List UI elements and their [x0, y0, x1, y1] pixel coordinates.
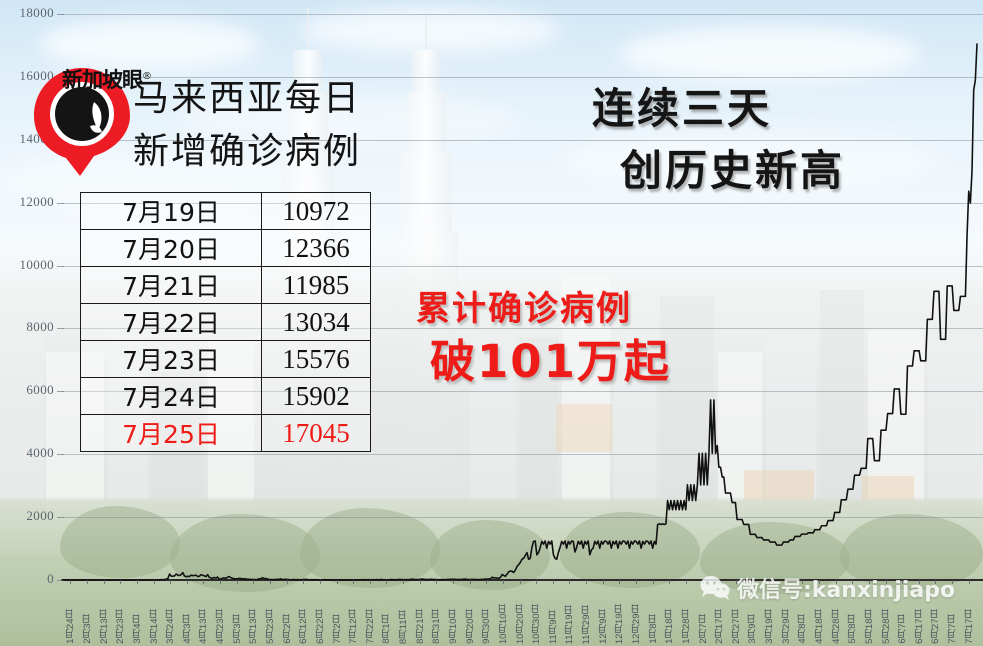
table-cell-value: 15576 [262, 341, 371, 378]
x-axis-tick-mark [170, 580, 171, 584]
cumulative-cases-callout: 累计确诊病例 破101万起 [416, 286, 671, 391]
x-axis-tick-mark [553, 580, 554, 584]
x-axis-tick-mark [453, 580, 454, 584]
x-axis-tick-mark [220, 580, 221, 584]
x-axis-tick-label: 3月9日 [746, 614, 760, 644]
x-axis-tick-label: 2月7日 [697, 614, 711, 644]
table-cell-value: 12366 [262, 230, 371, 267]
x-axis-tick-label: 8月31日 [430, 609, 444, 644]
x-axis-tick-mark [686, 580, 687, 584]
headline-line-1: 连续三天 [592, 84, 772, 133]
x-axis-tick-mark [669, 580, 670, 584]
chart-title-line-1: 马来西亚每日 [133, 72, 361, 125]
x-axis-tick-mark [536, 580, 537, 584]
x-axis-tick-mark [470, 580, 471, 584]
chart-title-line-2: 新增确诊病例 [133, 125, 361, 178]
x-axis-tick-label: 3月29日 [780, 609, 794, 644]
x-axis-tick-label: 10月20日 [514, 604, 528, 644]
x-axis-tick-label: 3月14日 [148, 609, 162, 644]
x-axis-tick-label: 1月8日 [647, 614, 661, 644]
watermark-text: 微信号:kanxinjiapo [737, 572, 955, 604]
table-cell-date: 7月20日 [81, 230, 262, 267]
x-axis-tick-label: 9月20日 [464, 609, 478, 644]
x-axis-tick-label: 6月7日 [896, 614, 910, 644]
x-axis-tick-label: 5月28日 [880, 609, 894, 644]
x-axis-tick-label: 1月28日 [680, 609, 694, 644]
x-axis-tick-label: 10月30日 [530, 604, 544, 644]
table-row: 7月21日11985 [81, 267, 371, 304]
x-axis-tick-mark [636, 580, 637, 584]
x-axis-tick-mark [603, 580, 604, 584]
x-axis-tick-label: 8月11日 [397, 610, 411, 644]
x-axis-tick-label: 7月2日 [331, 614, 345, 644]
x-axis-tick-mark [436, 580, 437, 584]
singapore-eye-logo[interactable]: 新加坡眼® [28, 62, 136, 180]
x-axis-tick-label: 4月3日 [181, 614, 195, 644]
x-axis-tick-label: 1月24日 [64, 609, 78, 644]
x-axis-tick-label: 6月27日 [929, 609, 943, 644]
headline: 连续三天 创历史新高 [592, 78, 845, 202]
x-axis-tick-label: 4月23日 [214, 609, 228, 644]
table-row: 7月19日10972 [81, 193, 371, 230]
x-axis-tick-mark [370, 580, 371, 584]
x-axis-tick-label: 7月17日 [963, 609, 977, 644]
x-axis-tick-mark [120, 580, 121, 584]
x-axis-tick-label: 4月18日 [813, 609, 827, 644]
table-cell-value: 17045 [262, 415, 371, 452]
x-axis-tick-label: 2月13日 [98, 609, 112, 644]
x-axis-tick-label: 12月29日 [630, 604, 644, 644]
x-axis-tick-mark [187, 580, 188, 584]
x-axis-tick-label: 2月17日 [713, 609, 727, 644]
infographic-canvas: 0200040006000800010000120001400016000180… [0, 0, 983, 646]
x-axis-tick-label: 10月10日 [497, 604, 511, 644]
logo-wordmark-text: 新加坡眼 [62, 68, 142, 92]
x-axis-tick-mark [87, 580, 88, 584]
x-axis-tick-mark [320, 580, 321, 584]
x-axis-tick-label: 8月21日 [414, 609, 428, 644]
x-axis-tick-label: 6月22日 [314, 609, 328, 644]
x-axis-tick-label: 11月9日 [547, 610, 561, 644]
x-axis-tick-mark [70, 580, 71, 584]
x-axis-tick-label: 7月7日 [946, 614, 960, 644]
x-axis-tick-label: 6月17日 [913, 609, 927, 644]
table-cell-value: 11985 [262, 267, 371, 304]
x-axis-tick-mark [569, 580, 570, 584]
x-axis-tick-label: 3月19日 [763, 609, 777, 644]
x-axis-tick-label: 11月19日 [563, 605, 577, 644]
x-axis-tick-label: 5月8日 [846, 614, 860, 644]
x-axis-tick-mark [353, 580, 354, 584]
x-axis-tick-label: 4月28日 [830, 609, 844, 644]
x-axis-tick-mark [503, 580, 504, 584]
x-axis-tick-label: 5月23日 [264, 609, 278, 644]
x-axis-tick-label: 5月3日 [231, 614, 245, 644]
x-axis-tick-label: 12月9日 [597, 609, 611, 644]
table-cell-date: 7月24日 [81, 378, 262, 415]
x-axis-tick-mark [253, 580, 254, 584]
cumulative-cases-label: 累计确诊病例 [416, 286, 671, 333]
x-axis-tick-label: 5月18日 [863, 609, 877, 644]
x-axis-tick-mark [386, 580, 387, 584]
x-axis-tick-mark [154, 580, 155, 584]
table-row: 7月25日17045 [81, 415, 371, 452]
table-row: 7月20日12366 [81, 230, 371, 267]
x-axis-tick-mark [303, 580, 304, 584]
x-axis-tick-mark [520, 580, 521, 584]
x-axis-tick-label: 5月13日 [247, 609, 261, 644]
x-axis-tick-label: 7月12日 [347, 609, 361, 644]
x-axis-tick-label: 2月27日 [730, 609, 744, 644]
table-row: 7月22日13034 [81, 304, 371, 341]
x-axis-tick-mark [287, 580, 288, 584]
table-cell-date: 7月19日 [81, 193, 262, 230]
x-axis-tick-mark [237, 580, 238, 584]
chart-title: 马来西亚每日 新增确诊病例 [133, 72, 361, 178]
x-axis-tick-mark [619, 580, 620, 584]
table-cell-value: 10972 [262, 193, 371, 230]
x-axis-tick-label: 2月3日 [81, 614, 95, 644]
cumulative-cases-value: 破101万起 [416, 333, 671, 391]
x-axis-tick-mark [969, 580, 970, 584]
x-axis-tick-mark [337, 580, 338, 584]
x-axis-tick-label: 11月29日 [580, 605, 594, 644]
x-axis-tick-label: 2月23日 [114, 609, 128, 644]
x-axis-tick-label: 9月30日 [480, 609, 494, 644]
wechat-icon [700, 575, 730, 601]
x-axis-tick-label: 7月22日 [364, 609, 378, 644]
headline-line-2: 创历史新高 [592, 140, 845, 202]
x-axis-tick-label: 9月10日 [447, 609, 461, 644]
x-axis-tick-label: 8月1日 [380, 614, 394, 644]
table-cell-value: 13034 [262, 304, 371, 341]
x-axis-tick-label: 4月8日 [796, 614, 810, 644]
x-axis-tick-mark [403, 580, 404, 584]
table-cell-value: 15902 [262, 378, 371, 415]
x-axis-tick-label: 6月2日 [281, 614, 295, 644]
table-row: 7月24日15902 [81, 378, 371, 415]
x-axis-tick-label: 3月4日 [131, 614, 145, 644]
recent-daily-cases-table: 7月19日109727月20日123667月21日119857月22日13034… [80, 192, 371, 452]
x-axis-tick-mark [270, 580, 271, 584]
x-axis-tick-label: 3月24日 [164, 609, 178, 644]
table-cell-date: 7月23日 [81, 341, 262, 378]
table-cell-date: 7月21日 [81, 267, 262, 304]
x-axis-tick-mark [203, 580, 204, 584]
x-axis-tick-mark [420, 580, 421, 584]
x-axis-tick-label: 4月13日 [197, 609, 211, 644]
x-axis-tick-mark [586, 580, 587, 584]
table-cell-date: 7月25日 [81, 415, 262, 452]
table-cell-date: 7月22日 [81, 304, 262, 341]
x-axis-tick-label: 1月18日 [663, 609, 677, 644]
x-axis-tick-mark [137, 580, 138, 584]
wechat-watermark: 微信号:kanxinjiapo [700, 572, 955, 604]
x-axis-tick-mark [104, 580, 105, 584]
x-axis-tick-label: 12月19日 [613, 604, 627, 644]
x-axis-tick-mark [653, 580, 654, 584]
table-row: 7月23日15576 [81, 341, 371, 378]
x-axis-tick-mark [486, 580, 487, 584]
x-axis-tick-label: 6月12日 [297, 609, 311, 644]
